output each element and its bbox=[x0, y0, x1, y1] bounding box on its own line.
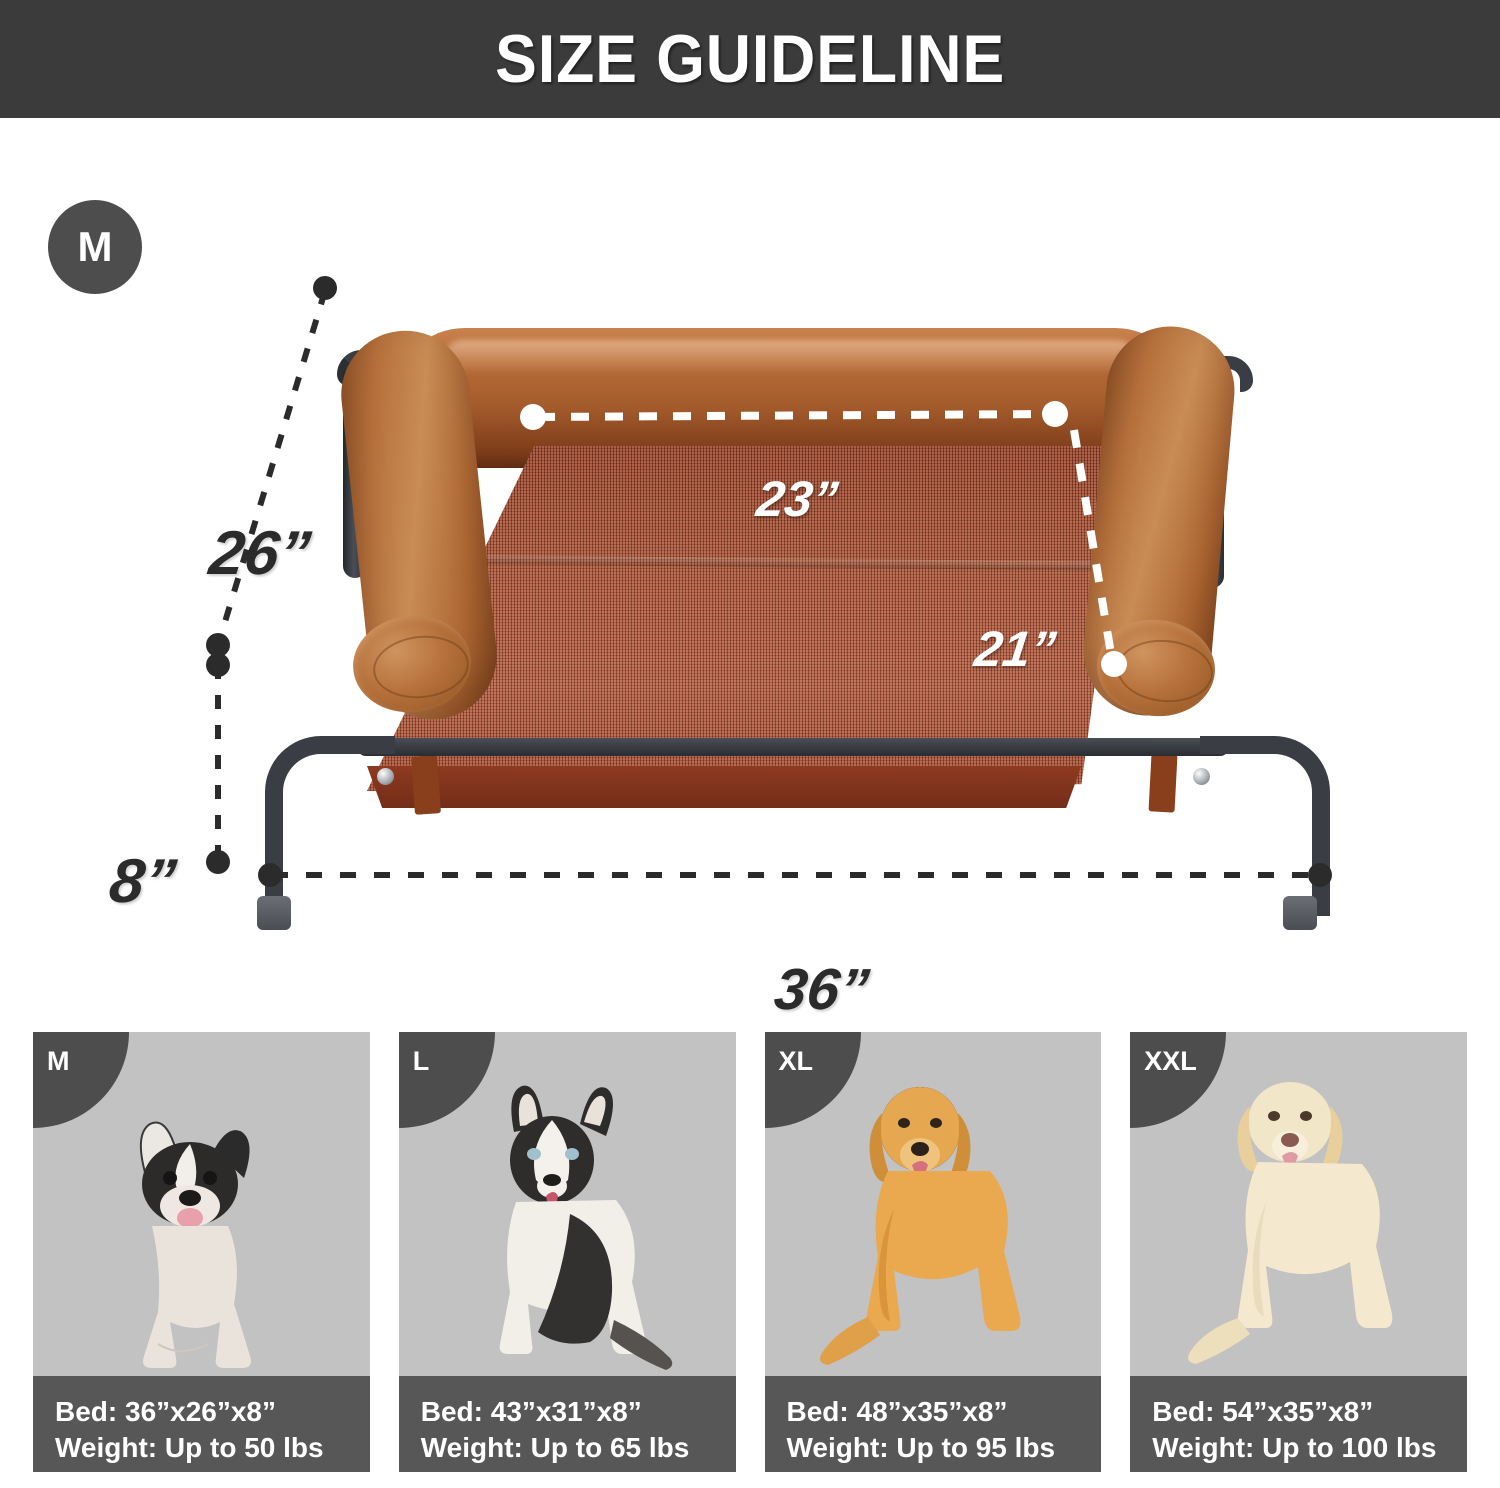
foot-cap-right bbox=[1283, 896, 1317, 930]
leather-strap-right bbox=[1149, 753, 1178, 812]
card-caption: Bed: 43”x31”x8” Weight: Up to 65 lbs bbox=[399, 1376, 736, 1472]
card-weight-limit: Weight: Up to 100 lbs bbox=[1152, 1430, 1467, 1465]
size-card[interactable]: L Bed: 43”x31”x8” Weight: Up to 65 lbs bbox=[399, 1032, 736, 1472]
dog-photo-yellow-labrador bbox=[1174, 1056, 1424, 1374]
dog-photo-siberian-husky bbox=[442, 1074, 692, 1374]
card-caption: Bed: 48”x35”x8” Weight: Up to 95 lbs bbox=[765, 1376, 1102, 1472]
bolster-back-highlight bbox=[445, 340, 1135, 374]
frame-cross-bar bbox=[357, 738, 1229, 756]
card-size-badge-label: L bbox=[413, 1046, 430, 1077]
card-size-badge-label: XL bbox=[779, 1046, 814, 1077]
dog-photo-golden-retriever bbox=[808, 1059, 1058, 1374]
card-weight-limit: Weight: Up to 50 lbs bbox=[55, 1430, 370, 1465]
size-badge-medium: M bbox=[48, 200, 142, 294]
product-diagram: M bbox=[0, 118, 1500, 1008]
foot-cap-left bbox=[257, 896, 291, 930]
page-title: SIZE GUIDELINE bbox=[495, 20, 1005, 98]
size-card[interactable]: XXL Bed: 54”x35”x8” Weight: Up to 100 lb… bbox=[1130, 1032, 1467, 1472]
dimension-label-height: 26” bbox=[206, 518, 315, 589]
card-bed-size: Bed: 48”x35”x8” bbox=[787, 1394, 1102, 1429]
card-size-badge-label: XXL bbox=[1144, 1046, 1197, 1077]
size-card[interactable]: M Bed: 36”x26”x8” Weight: Up to 50 lbs bbox=[33, 1032, 370, 1472]
frame-leg-left bbox=[265, 736, 395, 916]
card-caption: Bed: 36”x26”x8” Weight: Up to 50 lbs bbox=[33, 1376, 370, 1472]
dimension-label-length: 36” bbox=[771, 956, 873, 1023]
card-weight-limit: Weight: Up to 95 lbs bbox=[787, 1430, 1102, 1465]
card-size-badge-label: M bbox=[47, 1046, 70, 1077]
dog-photo-french-bulldog bbox=[86, 1106, 316, 1374]
dimension-label-leg-height: 8” bbox=[106, 846, 180, 917]
card-bed-size: Bed: 43”x31”x8” bbox=[421, 1394, 736, 1429]
page-header: SIZE GUIDELINE bbox=[0, 0, 1500, 118]
card-caption: Bed: 54”x35”x8” Weight: Up to 100 lbs bbox=[1130, 1376, 1467, 1472]
card-weight-limit: Weight: Up to 65 lbs bbox=[421, 1430, 736, 1465]
size-card[interactable]: XL Bed: 48”x35”x8” Weight: Up to 95 lbs bbox=[765, 1032, 1102, 1472]
dimension-label-inner-width: 23” bbox=[753, 470, 841, 528]
frame-leg-right bbox=[1200, 736, 1330, 916]
leather-strap-left bbox=[411, 755, 441, 815]
card-bed-size: Bed: 36”x26”x8” bbox=[55, 1394, 370, 1429]
size-guideline-page: SIZE GUIDELINE M bbox=[0, 0, 1500, 1488]
size-cards-grid: M Bed: 36”x26”x8” Weight: Up to 50 lbs bbox=[33, 1032, 1467, 1472]
dimension-label-inner-depth: 21” bbox=[971, 620, 1059, 678]
size-badge-label: M bbox=[78, 223, 113, 271]
card-bed-size: Bed: 54”x35”x8” bbox=[1152, 1394, 1467, 1429]
mesh-front-edge bbox=[367, 766, 1127, 808]
elevated-pet-bed-illustration bbox=[245, 268, 1365, 868]
